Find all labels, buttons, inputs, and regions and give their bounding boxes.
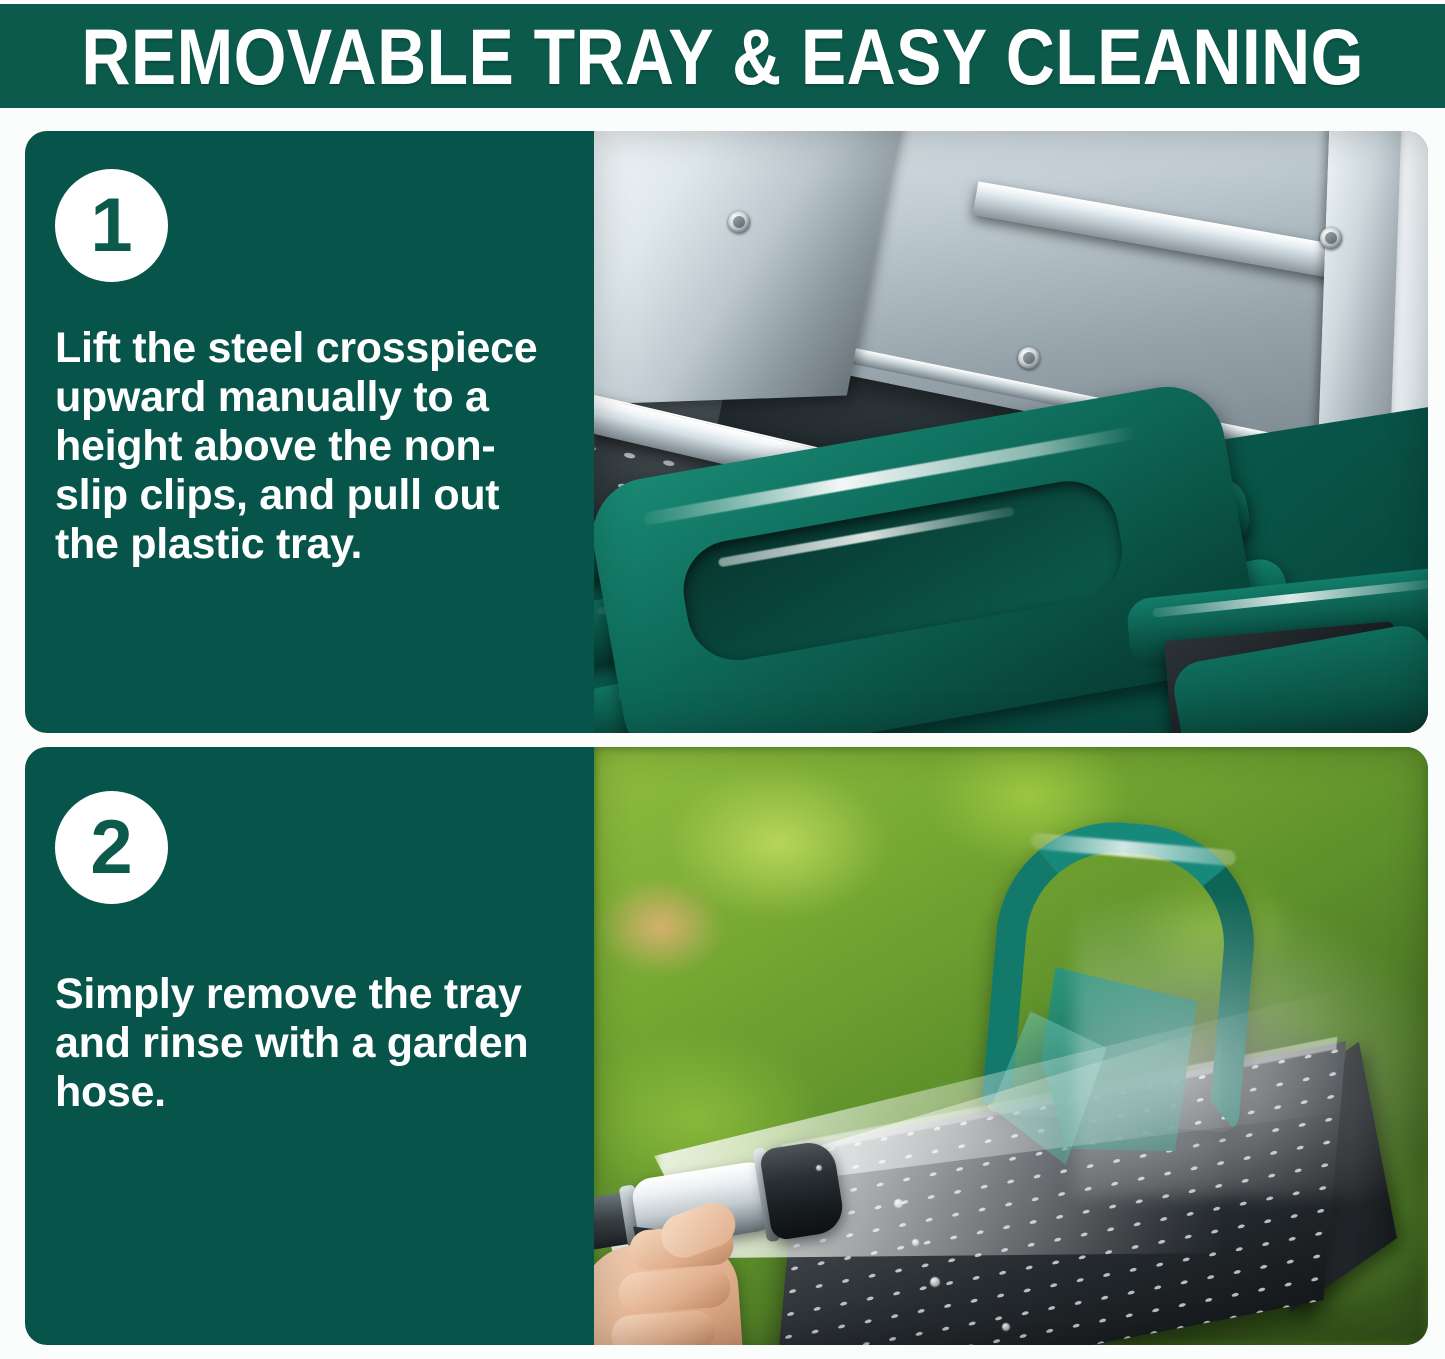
- step-panel-1: 1 Lift the steel crosspiece upward manua…: [25, 131, 1428, 733]
- step-panel-2: 2 Simply remove the tray and rinse with …: [25, 747, 1428, 1345]
- water-droplet: [894, 1199, 903, 1208]
- water-droplet: [912, 1239, 919, 1246]
- bolt-icon: [728, 211, 750, 233]
- step-2-text-block: 2 Simply remove the tray and rinse with …: [25, 747, 594, 1345]
- step-2-photo: [594, 747, 1428, 1345]
- step-1-photo: [594, 131, 1428, 733]
- water-droplet: [930, 1277, 940, 1287]
- finger: [610, 1309, 717, 1345]
- step-1-number-badge: 1: [55, 169, 168, 282]
- hand: [594, 1210, 806, 1345]
- step-2-description: Simply remove the tray and rinse with a …: [55, 970, 564, 1117]
- water-droplet: [1002, 1323, 1010, 1331]
- bolt-icon: [1320, 227, 1342, 249]
- page-title: REMOVABLE TRAY & EASY CLEANING: [81, 17, 1364, 96]
- step-1-text-block: 1 Lift the steel crosspiece upward manua…: [25, 131, 594, 733]
- step-1-description: Lift the steel crosspiece upward manuall…: [55, 324, 564, 569]
- step-2-number-badge: 2: [55, 791, 168, 904]
- finger: [617, 1266, 732, 1314]
- bolt-icon: [1018, 347, 1040, 369]
- header-banner: REMOVABLE TRAY & EASY CLEANING: [0, 4, 1445, 108]
- infographic-page: REMOVABLE TRAY & EASY CLEANING 1 Lift th…: [0, 0, 1445, 1359]
- water-droplet: [816, 1165, 822, 1171]
